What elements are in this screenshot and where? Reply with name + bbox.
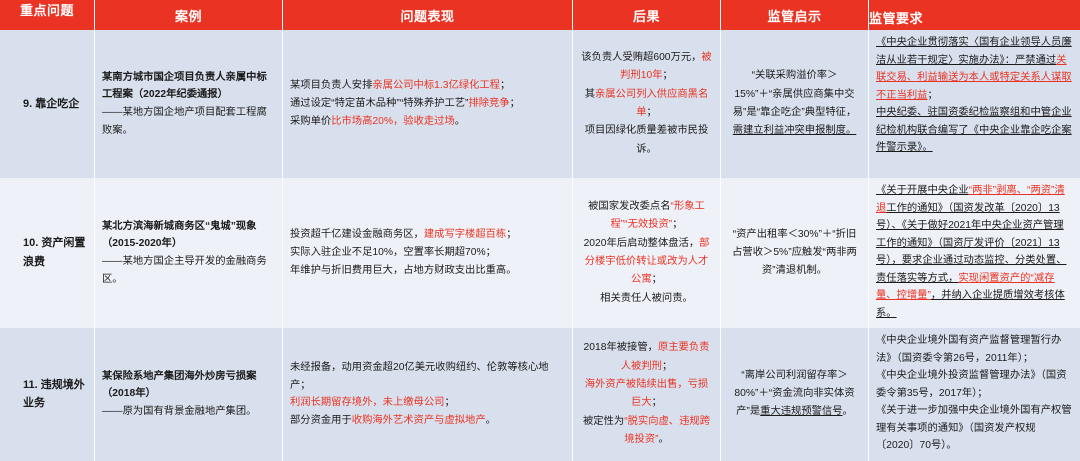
manifestation-line: 部分资金用于收购海外艺术资产与虚拟地产。 (290, 412, 565, 430)
consequence-line: 2020年后启动整体盘活，部分楼宇低价转让或改为人才公寓； (580, 235, 713, 290)
cell-manifestation: 某项目负责人安排亲属公司中标1.3亿绿化工程； 通过设定“特定苗木品种”“特殊养… (283, 30, 573, 178)
manifestation-line: 未经报备，动用资金超20亿美元收购纽约、伦敦等核心地产； (290, 359, 565, 394)
cell-topic: 9. 靠企吃企 (0, 30, 95, 178)
column-header-topic: 重点问题 (0, 0, 95, 30)
case-title: 某南方城市国企项目负责人亲属中标工程案（2022年纪委通报） (102, 69, 275, 104)
consequence-line: 海外资产被陆续出售，亏损巨大； (580, 376, 713, 413)
topic-label: 10. 资产闲置浪费 (7, 234, 87, 271)
table-row: 9. 靠企吃企 某南方城市国企项目负责人亲属中标工程案（2022年纪委通报） —… (0, 30, 1080, 178)
cell-requirement: 《中央企业贯彻落实〈国有企业领导人员廉洁从业若干规定〉实施办法》：严禁通过关联交… (869, 30, 1080, 178)
consequence-line: 项目因绿化质量差被市民投诉。 (580, 122, 713, 159)
cell-manifestation: 投资超千亿建设金融商务区，建成写字楼超百栋； 实际入驻企业不足10%，空置率长期… (283, 178, 573, 328)
column-header-insight: 监管启示 (721, 0, 869, 30)
requirement-text: 《中央企业境外国有资产监督管理暂行办法》（国资委令第26号，2011年）； 《中… (876, 332, 1073, 455)
column-header-consequence: 后果 (573, 0, 721, 30)
consequence-line: 2018年被接管，原主要负责人被判刑； (580, 339, 713, 376)
insight-line: “资产出租率＜30%”＋“折旧占营收＞5%”应触发“两非两资”清退机制。 (728, 226, 861, 281)
cell-case: 某南方城市国企项目负责人亲属中标工程案（2022年纪委通报） ——某地方国企地产… (95, 30, 283, 178)
requirement-line: 《中央企业境外国有资产监督管理暂行办法》（国资委令第26号，2011年）； (876, 332, 1073, 367)
manifestation-line: 年维护与折旧费用巨大，占地方财政支出比重高。 (290, 262, 565, 280)
cell-insight: “离岸公司利润留存率＞80%”＋“资金流向非实体资产”是重大违规预警信号。 (721, 328, 869, 461)
column-header-case: 案例 (95, 0, 283, 30)
insight-text: “关联采购溢价率＞15%”＋“亲属供应商集中交易”是“靠企吃企”典型特征，需建立… (728, 67, 861, 140)
topic-label: 11. 违规境外业务 (7, 376, 87, 413)
requirement-text: 《中央企业贯彻落实〈国有企业领导人员廉洁从业若干规定〉实施办法》：严禁通过关联交… (876, 34, 1073, 157)
requirement-text: 《关于开展中央企业“两非”剥离、“两资”清退工作的通知》（国资发改革〔2020〕… (876, 182, 1073, 322)
consequence-line: 相关责任人被问责。 (580, 290, 713, 308)
consequence-line: 该负责人受贿超600万元，被判刑10年； (580, 49, 713, 86)
cell-topic: 10. 资产闲置浪费 (0, 178, 95, 328)
cell-case: 某北方滨海新城商务区“鬼城”现象（2015-2020年） ——某地方国企主导开发… (95, 178, 283, 328)
table-row: 11. 违规境外业务 某保险系地产集团海外炒房亏损案（2018年） ——原为国有… (0, 328, 1080, 461)
consequence-text: 2018年被接管，原主要负责人被判刑； 海外资产被陆续出售，亏损巨大； 被定性为… (580, 339, 713, 449)
requirement-line: 《中央企业境外投资监督管理办法》（国资委令第35号，2017年）； (876, 367, 1073, 402)
insight-line: “关联采购溢价率＞15%”＋“亲属供应商集中交易”是“靠企吃企”典型特征，需建立… (728, 67, 861, 140)
manifestation-line: 实际入驻企业不足10%，空置率长期超70%； (290, 244, 565, 262)
cell-requirement: 《关于开展中央企业“两非”剥离、“两资”清退工作的通知》（国资发改革〔2020〕… (869, 178, 1080, 328)
topic-label: 9. 靠企吃企 (7, 95, 79, 114)
consequence-line: 被国家发改委点名“形象工程”“无效投资”； (580, 198, 713, 235)
cell-consequence: 该负责人受贿超600万元，被判刑10年； 其亲属公司列入供应商黑名单； 项目因绿… (573, 30, 721, 178)
table-row: 10. 资产闲置浪费 某北方滨海新城商务区“鬼城”现象（2015-2020年） … (0, 178, 1080, 328)
table-header-row: 重点问题 案例 问题表现 后果 监管启示 监管要求 (0, 0, 1080, 30)
consequence-text: 该负责人受贿超600万元，被判刑10年； 其亲属公司列入供应商黑名单； 项目因绿… (580, 49, 713, 159)
cell-consequence: 2018年被接管，原主要负责人被判刑； 海外资产被陆续出售，亏损巨大； 被定性为… (573, 328, 721, 461)
case-subtitle: ——某地方国企主导开发的金融商务区。 (102, 253, 275, 288)
manifestation-line: 利润长期留存境外，未上缴母公司； (290, 394, 565, 412)
requirement-line: 《中央企业贯彻落实〈国有企业领导人员廉洁从业若干规定〉实施办法》：严禁通过关联交… (876, 34, 1073, 104)
manifestation-line: 通过设定“特定苗木品种”“特殊养护工艺”排除竞争； (290, 95, 565, 113)
consequence-line: 其亲属公司列入供应商黑名单； (580, 86, 713, 123)
insight-text: “资产出租率＜30%”＋“折旧占营收＞5%”应触发“两非两资”清退机制。 (728, 226, 861, 281)
consequence-text: 被国家发改委点名“形象工程”“无效投资”； 2020年后启动整体盘活，部分楼宇低… (580, 198, 713, 308)
cell-insight: “关联采购溢价率＞15%”＋“亲属供应商集中交易”是“靠企吃企”典型特征，需建立… (721, 30, 869, 178)
cell-topic: 11. 违规境外业务 (0, 328, 95, 461)
manifestation-line: 某项目负责人安排亲属公司中标1.3亿绿化工程； (290, 77, 565, 95)
cell-case: 某保险系地产集团海外炒房亏损案（2018年） ——原为国有背景金融地产集团。 (95, 328, 283, 461)
cell-requirement: 《中央企业境外国有资产监督管理暂行办法》（国资委令第26号，2011年）； 《中… (869, 328, 1080, 461)
cell-consequence: 被国家发改委点名“形象工程”“无效投资”； 2020年后启动整体盘活，部分楼宇低… (573, 178, 721, 328)
cell-insight: “资产出租率＜30%”＋“折旧占营收＞5%”应触发“两非两资”清退机制。 (721, 178, 869, 328)
case-title: 某北方滨海新城商务区“鬼城”现象（2015-2020年） (102, 218, 275, 253)
requirement-line: 《关于开展中央企业“两非”剥离、“两资”清退工作的通知》（国资发改革〔2020〕… (876, 182, 1073, 322)
insight-line: “离岸公司利润留存率＞80%”＋“资金流向非实体资产”是重大违规预警信号。 (728, 367, 861, 422)
regulatory-issues-table: 重点问题 案例 问题表现 后果 监管启示 监管要求 9. 靠企吃企 某南方城市国… (0, 0, 1080, 426)
case-subtitle: ——原为国有背景金融地产集团。 (102, 403, 275, 421)
consequence-line: 被定性为“脱实向虚、违规跨境投资”。 (580, 413, 713, 450)
column-header-manifestation: 问题表现 (283, 0, 573, 30)
requirement-line: 《关于进一步加强中央企业境外国有产权管理有关事项的通知》（国资发产权规〔2020… (876, 402, 1073, 455)
insight-text: “离岸公司利润留存率＞80%”＋“资金流向非实体资产”是重大违规预警信号。 (728, 367, 861, 422)
case-title: 某保险系地产集团海外炒房亏损案（2018年） (102, 368, 275, 403)
case-subtitle: ——某地方国企地产项目配套工程腐败案。 (102, 104, 275, 139)
column-header-requirement: 监管要求 (869, 0, 1080, 30)
requirement-line: 中央纪委、驻国资委纪检监察组和中管企业纪检机构联合编写了《中央企业靠企吃企案件警… (876, 104, 1073, 157)
cell-manifestation: 未经报备，动用资金超20亿美元收购纽约、伦敦等核心地产； 利润长期留存境外，未上… (283, 328, 573, 461)
manifestation-line: 采购单价比市场高20%，验收走过场。 (290, 113, 565, 131)
manifestation-line: 投资超千亿建设金融商务区，建成写字楼超百栋； (290, 226, 565, 244)
